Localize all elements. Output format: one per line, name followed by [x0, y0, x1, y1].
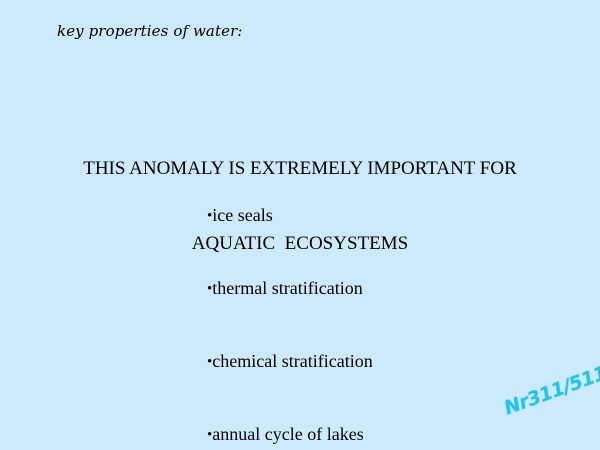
list-item-label: ice seals	[212, 205, 272, 225]
list-item-label: annual cycle of lakes	[212, 424, 363, 444]
list-item-label: thermal stratification	[212, 278, 362, 298]
list-item: •thermal stratification	[171, 252, 373, 325]
list-item-label: chemical stratification	[212, 351, 372, 371]
bullet-list: •ice seals •thermal stratification •chem…	[171, 179, 373, 450]
slide-subtitle: key properties of water:	[57, 22, 243, 40]
list-item: •chemical stratification	[171, 325, 373, 398]
slide-heading-line-1: THIS ANOMALY IS EXTREMELY IMPORTANT FOR	[60, 156, 540, 181]
list-item: •ice seals	[171, 179, 373, 252]
slide-watermark: Nr311/511	[501, 364, 600, 419]
list-item: •annual cycle of lakes	[171, 398, 373, 450]
slide-surface: key properties of water: THIS ANOMALY IS…	[0, 0, 600, 450]
slide-canvas: key properties of water: THIS ANOMALY IS…	[0, 0, 600, 450]
